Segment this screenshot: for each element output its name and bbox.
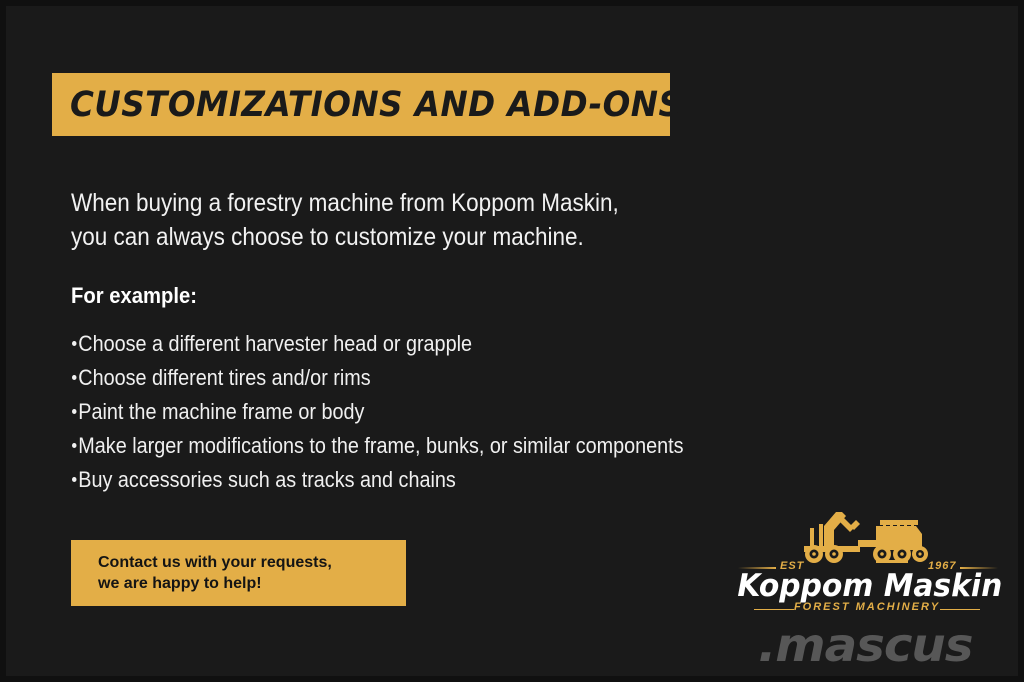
customization-options-list: Choose a different harvester head or gra… bbox=[72, 329, 684, 499]
forestry-forwarder-icon bbox=[790, 506, 940, 564]
list-item-label: Choose a different harvester head or gra… bbox=[78, 331, 472, 356]
list-item: Make larger modifications to the frame, … bbox=[72, 431, 684, 465]
list-item-label: Paint the machine frame or body bbox=[78, 399, 364, 424]
for-example-label: For example: bbox=[71, 283, 197, 309]
intro-line-2: you can always choose to customize your … bbox=[71, 220, 791, 254]
logo-tagline-rule-right bbox=[940, 609, 980, 610]
bullet-dot-icon bbox=[72, 409, 77, 414]
bullet-dot-icon bbox=[72, 477, 77, 482]
bullet-dot-icon bbox=[72, 341, 77, 346]
logo-tagline-row: FOREST MACHINERY bbox=[732, 601, 1002, 617]
koppom-maskin-logo: EST 1967 Koppom Maskin FOREST MACHINERY bbox=[732, 506, 1002, 616]
list-item: Choose a different harvester head or gra… bbox=[72, 329, 684, 363]
title-banner: CUSTOMIZATIONS AND ADD-ONS bbox=[52, 73, 670, 136]
mascus-watermark: .mascus bbox=[758, 618, 972, 672]
list-item: Buy accessories such as tracks and chain… bbox=[72, 465, 684, 499]
intro-paragraph: When buying a forestry machine from Kopp… bbox=[71, 186, 791, 254]
bullet-dot-icon bbox=[72, 375, 77, 380]
promo-slide: CUSTOMIZATIONS AND ADD-ONS When buying a… bbox=[0, 0, 1024, 682]
contact-cta-line-2: we are happy to help! bbox=[98, 573, 406, 594]
page-title: CUSTOMIZATIONS AND ADD-ONS bbox=[70, 85, 682, 125]
list-item-label: Buy accessories such as tracks and chain… bbox=[78, 467, 455, 492]
list-item: Choose different tires and/or rims bbox=[72, 363, 684, 397]
logo-tagline: FOREST MACHINERY bbox=[732, 601, 1002, 613]
list-item-label: Make larger modifications to the frame, … bbox=[78, 433, 683, 458]
intro-line-1: When buying a forestry machine from Kopp… bbox=[71, 186, 791, 220]
logo-wordmark: Koppom Maskin bbox=[737, 568, 996, 604]
contact-cta-box[interactable]: Contact us with your requests, we are ha… bbox=[71, 540, 406, 606]
list-item-label: Choose different tires and/or rims bbox=[78, 365, 370, 390]
contact-cta-line-1: Contact us with your requests, bbox=[98, 552, 406, 573]
bullet-dot-icon bbox=[72, 443, 77, 448]
list-item: Paint the machine frame or body bbox=[72, 397, 684, 431]
